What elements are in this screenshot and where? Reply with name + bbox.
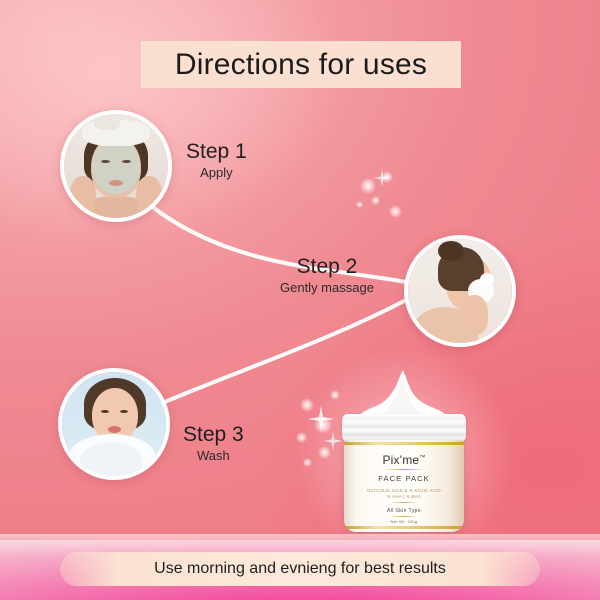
skin-type: All Skin Type xyxy=(344,508,464,514)
step-2-photo xyxy=(404,235,516,347)
step-2-label: Step 2 Gently massage xyxy=(280,255,374,296)
photo-3-towel-fold xyxy=(80,442,142,476)
photo-2-foam-dab xyxy=(480,273,494,286)
photo-1-headband-knot xyxy=(94,114,120,130)
product-type: FACE PACK xyxy=(344,474,464,484)
jar-label-body: Pix'me™ FACE PACK GLYCOLIC ACID & % KOJI… xyxy=(344,440,464,532)
step-3-number: Step 3 xyxy=(183,423,244,447)
step-3-action: Wash xyxy=(183,447,244,464)
photo-3-eye-right xyxy=(120,410,128,413)
product-jar: Pix'me™ FACE PACK GLYCOLIC ACID & % KOJI… xyxy=(340,384,468,536)
photo-1-eye-left xyxy=(101,160,110,163)
ingredients-line-2: % AHA | % BHA xyxy=(344,494,464,500)
trademark-mark: ™ xyxy=(419,455,425,461)
brand-name-text: Pix'me xyxy=(382,453,419,467)
gold-accent-bottom xyxy=(344,526,464,529)
title-banner: Directions for uses xyxy=(141,41,461,88)
skin-type-divider-top xyxy=(389,502,419,503)
photo-2-hand xyxy=(460,295,488,335)
step-3-photo-inner xyxy=(62,372,166,476)
photo-1-eye-right xyxy=(122,160,131,163)
photo-3-eye-left xyxy=(101,410,109,413)
jar-label-stack: Pix'me™ FACE PACK GLYCOLIC ACID & % KOJI… xyxy=(344,452,464,524)
step-2-action: Gently massage xyxy=(280,279,374,296)
net-weight: Net Wt. 100g xyxy=(344,519,464,524)
photo-3-smile xyxy=(108,426,121,433)
brand-name: Pix'me™ xyxy=(344,452,464,467)
footer-pill: Use morning and evnieng for best results xyxy=(60,552,540,586)
step-1-photo xyxy=(60,110,172,222)
step-2-photo-inner xyxy=(408,239,512,343)
jar-lid xyxy=(342,414,466,442)
step-3-label: Step 3 Wash xyxy=(183,423,244,464)
step-1-photo-inner xyxy=(64,114,168,218)
brand-divider xyxy=(383,469,425,470)
photo-2-hair-bun xyxy=(438,241,464,261)
poster-root: Directions for uses xyxy=(0,0,600,600)
step-1-action: Apply xyxy=(186,164,247,181)
step-3-photo xyxy=(58,368,170,480)
skin-type-divider-bottom xyxy=(389,516,419,517)
photo-1-hand-right xyxy=(136,176,162,214)
footer-note: Use morning and evnieng for best results xyxy=(154,560,446,578)
footer-band: Use morning and evnieng for best results xyxy=(0,540,600,600)
photo-1-lips xyxy=(109,180,123,186)
step-1-label: Step 1 Apply xyxy=(186,140,247,181)
step-2-number: Step 2 xyxy=(280,255,374,279)
page-title: Directions for uses xyxy=(175,48,427,82)
photo-1-hand-left xyxy=(70,176,96,214)
gold-accent-top xyxy=(344,442,464,445)
step-1-number: Step 1 xyxy=(186,140,247,164)
